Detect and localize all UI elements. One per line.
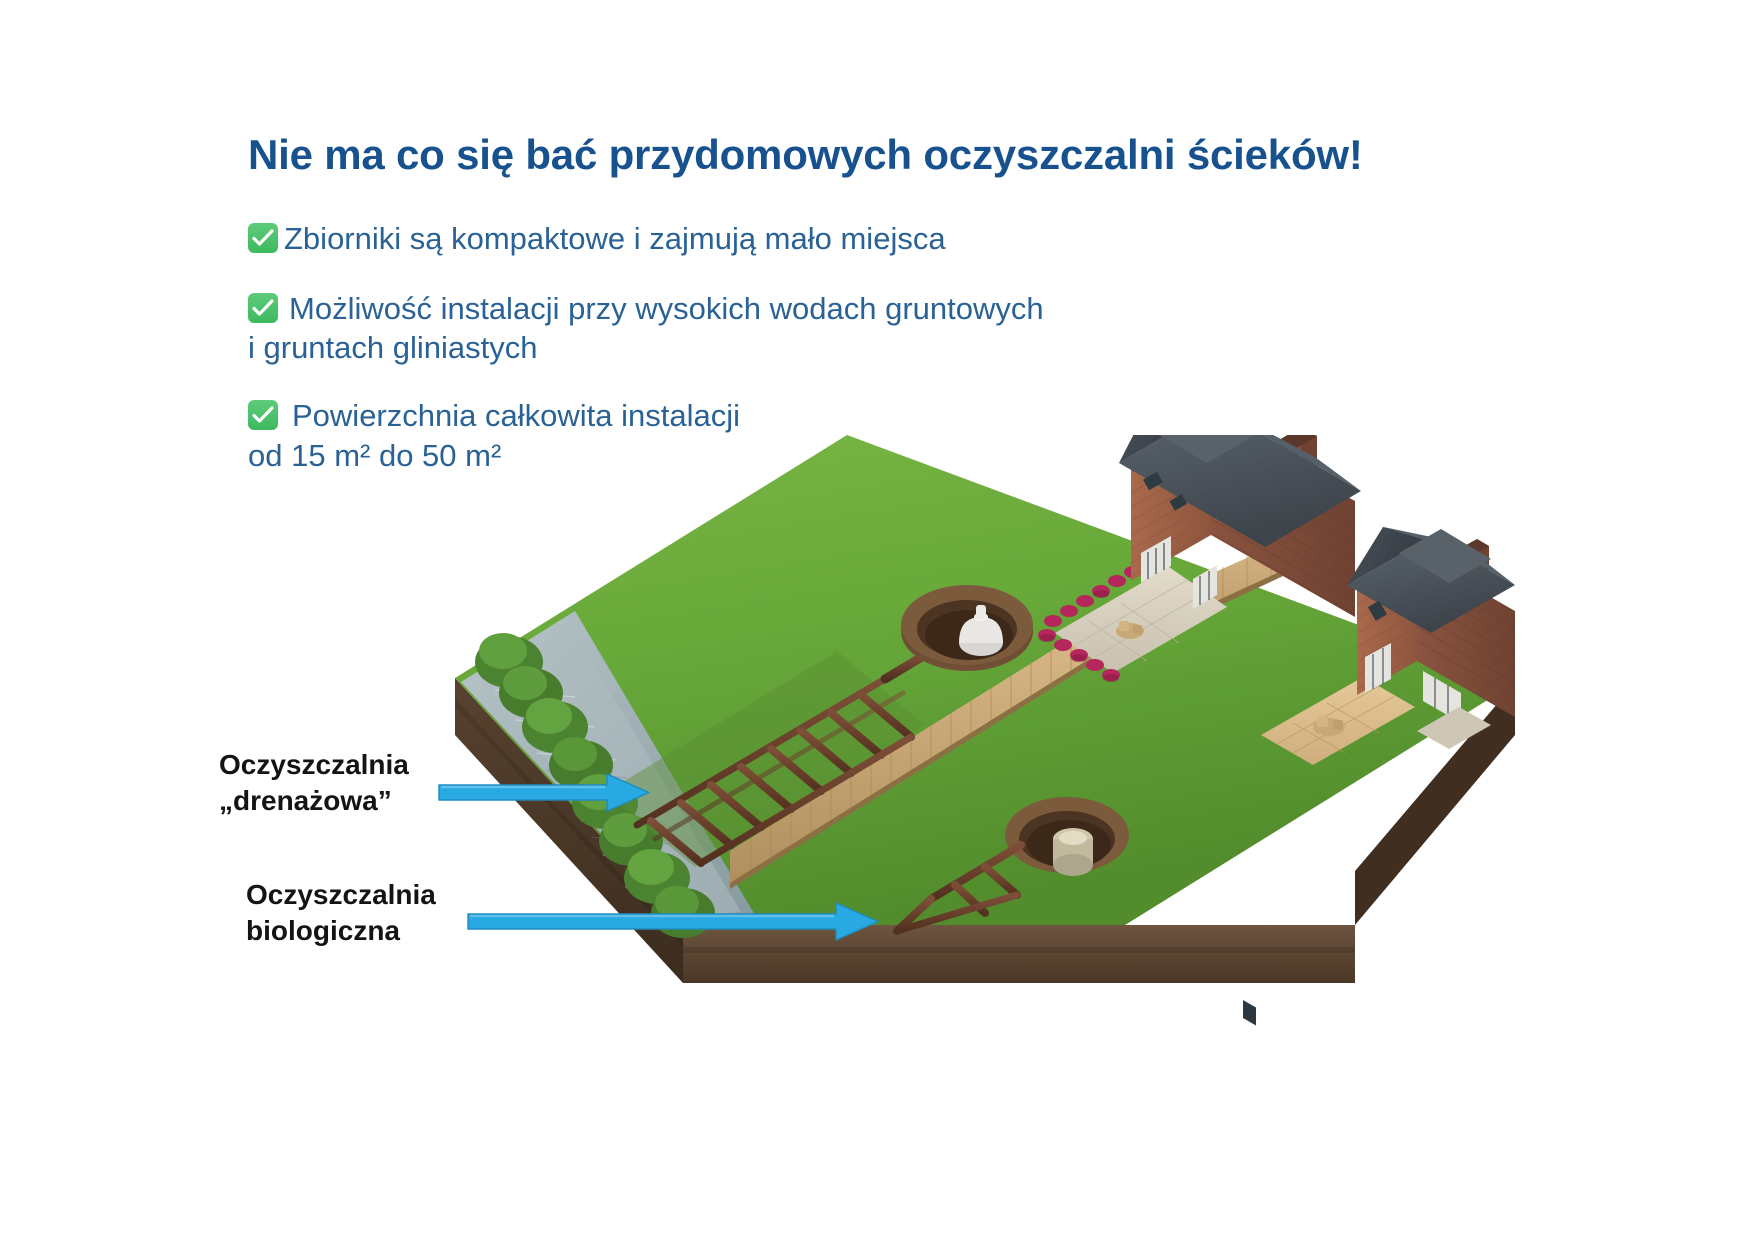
callout-line-2: „drenażowa”: [219, 783, 409, 819]
list-item: Zbiorniki są kompaktowe i zajmują mało m…: [248, 219, 1248, 259]
callout-label-biological: Oczyszczalnia biologiczna: [246, 877, 436, 949]
poster-canvas: Nie ma co się bać przydomowych oczyszcza…: [0, 0, 1748, 1240]
callout-line-1: Oczyszczalnia: [219, 747, 409, 783]
page-title: Nie ma co się bać przydomowych oczyszcza…: [248, 131, 1363, 179]
list-item-label: Powierzchnia całkowita instalacji: [292, 398, 740, 433]
list-item-label: Zbiorniki są kompaktowe i zajmują mało m…: [284, 221, 946, 256]
septic-tank-excavation: [901, 585, 1033, 671]
pointer-arrow-drainage: [437, 771, 652, 820]
pointer-arrow-biological: [466, 900, 881, 949]
list-item-label-continuation: i gruntach gliniastych: [248, 328, 1248, 368]
callout-label-drainage: Oczyszczalnia „drenażowa”: [219, 747, 409, 819]
list-item: Możliwość instalacji przy wysokich wodac…: [248, 289, 1248, 368]
green-check-box-icon: [248, 293, 278, 323]
green-check-box-icon: [248, 400, 278, 430]
callout-line-2: biologiczna: [246, 913, 436, 949]
callout-line-1: Oczyszczalnia: [246, 877, 436, 913]
isometric-garden-illustration: [455, 435, 1515, 1075]
list-item-label: Możliwość instalacji przy wysokich wodac…: [289, 291, 1044, 326]
green-check-box-icon: [248, 223, 278, 253]
